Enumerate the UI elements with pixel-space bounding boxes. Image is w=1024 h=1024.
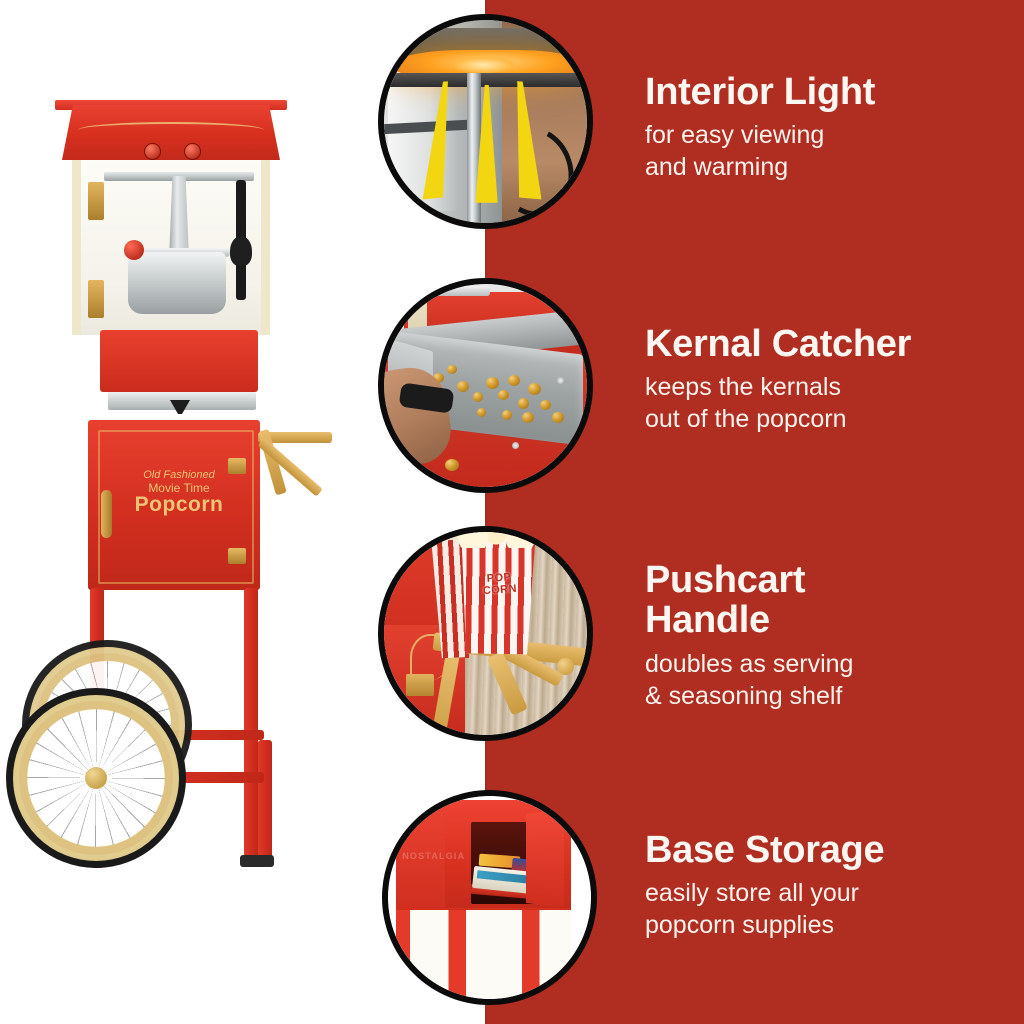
feature-row-pushcart-handle: POP CORN Pushcart Handle doubles as serv…	[0, 512, 1024, 768]
feature-text-interior-light: Interior Light for easy viewing and warm…	[645, 72, 1015, 183]
feature-row-kernal-catcher: Kernal Catcher keeps the kernals out of …	[0, 256, 1024, 512]
thumbnail-kernal-catcher	[378, 278, 593, 493]
feature-desc-line-1: easily store all your	[645, 877, 1015, 909]
feature-desc-line-2: and warming	[645, 151, 1015, 183]
feature-row-interior-light: Interior Light for easy viewing and warm…	[0, 0, 1024, 256]
popcorn-tufts	[457, 532, 538, 548]
thumbnail-interior-light	[378, 14, 593, 229]
feature-text-kernal-catcher: Kernal Catcher keeps the kernals out of …	[645, 324, 1015, 435]
feature-desc-base-storage: easily store all your popcorn supplies	[645, 877, 1015, 941]
feature-desc-line-2: & seasoning shelf	[645, 680, 1015, 712]
feature-title-line-2: Handle	[645, 600, 1015, 640]
brand-watermark: NOSTALGIA	[402, 851, 451, 861]
feature-title-interior-light: Interior Light	[645, 72, 1015, 112]
feature-desc-kernal-catcher: keeps the kernals out of the popcorn	[645, 371, 1015, 435]
feature-title-line-1: Pushcart	[645, 560, 1015, 600]
feature-text-base-storage: Base Storage easily store all your popco…	[645, 830, 1015, 941]
feature-title-base-storage: Base Storage	[645, 830, 1015, 870]
infographic-canvas: Old Fashioned Movie Time Popcorn	[0, 0, 1024, 1024]
feature-title-pushcart-handle: Pushcart Handle	[645, 560, 1015, 641]
feature-desc-line-1: doubles as serving	[645, 648, 1015, 680]
feature-title-kernal-catcher: Kernal Catcher	[645, 324, 1015, 364]
feature-desc-interior-light: for easy viewing and warming	[645, 119, 1015, 183]
storage-door-open	[526, 810, 563, 908]
feature-desc-line-1: keeps the kernals	[645, 371, 1015, 403]
feature-desc-line-2: out of the popcorn	[645, 403, 1015, 435]
feature-desc-line-2: popcorn supplies	[645, 909, 1015, 941]
door-hinge-icon	[406, 674, 434, 696]
feature-text-pushcart-handle: Pushcart Handle doubles as serving & sea…	[645, 560, 1015, 712]
feature-row-base-storage: NOSTALGIA Base Storage easily store all …	[0, 768, 1024, 1024]
thumbnail-base-storage: NOSTALGIA	[382, 790, 597, 1005]
popcorn-box-label: POP CORN	[464, 570, 534, 598]
feature-desc-line-1: for easy viewing	[645, 119, 1015, 151]
feature-desc-pushcart-handle: doubles as serving & seasoning shelf	[645, 648, 1015, 712]
thumbnail-pushcart-handle: POP CORN	[378, 526, 593, 741]
